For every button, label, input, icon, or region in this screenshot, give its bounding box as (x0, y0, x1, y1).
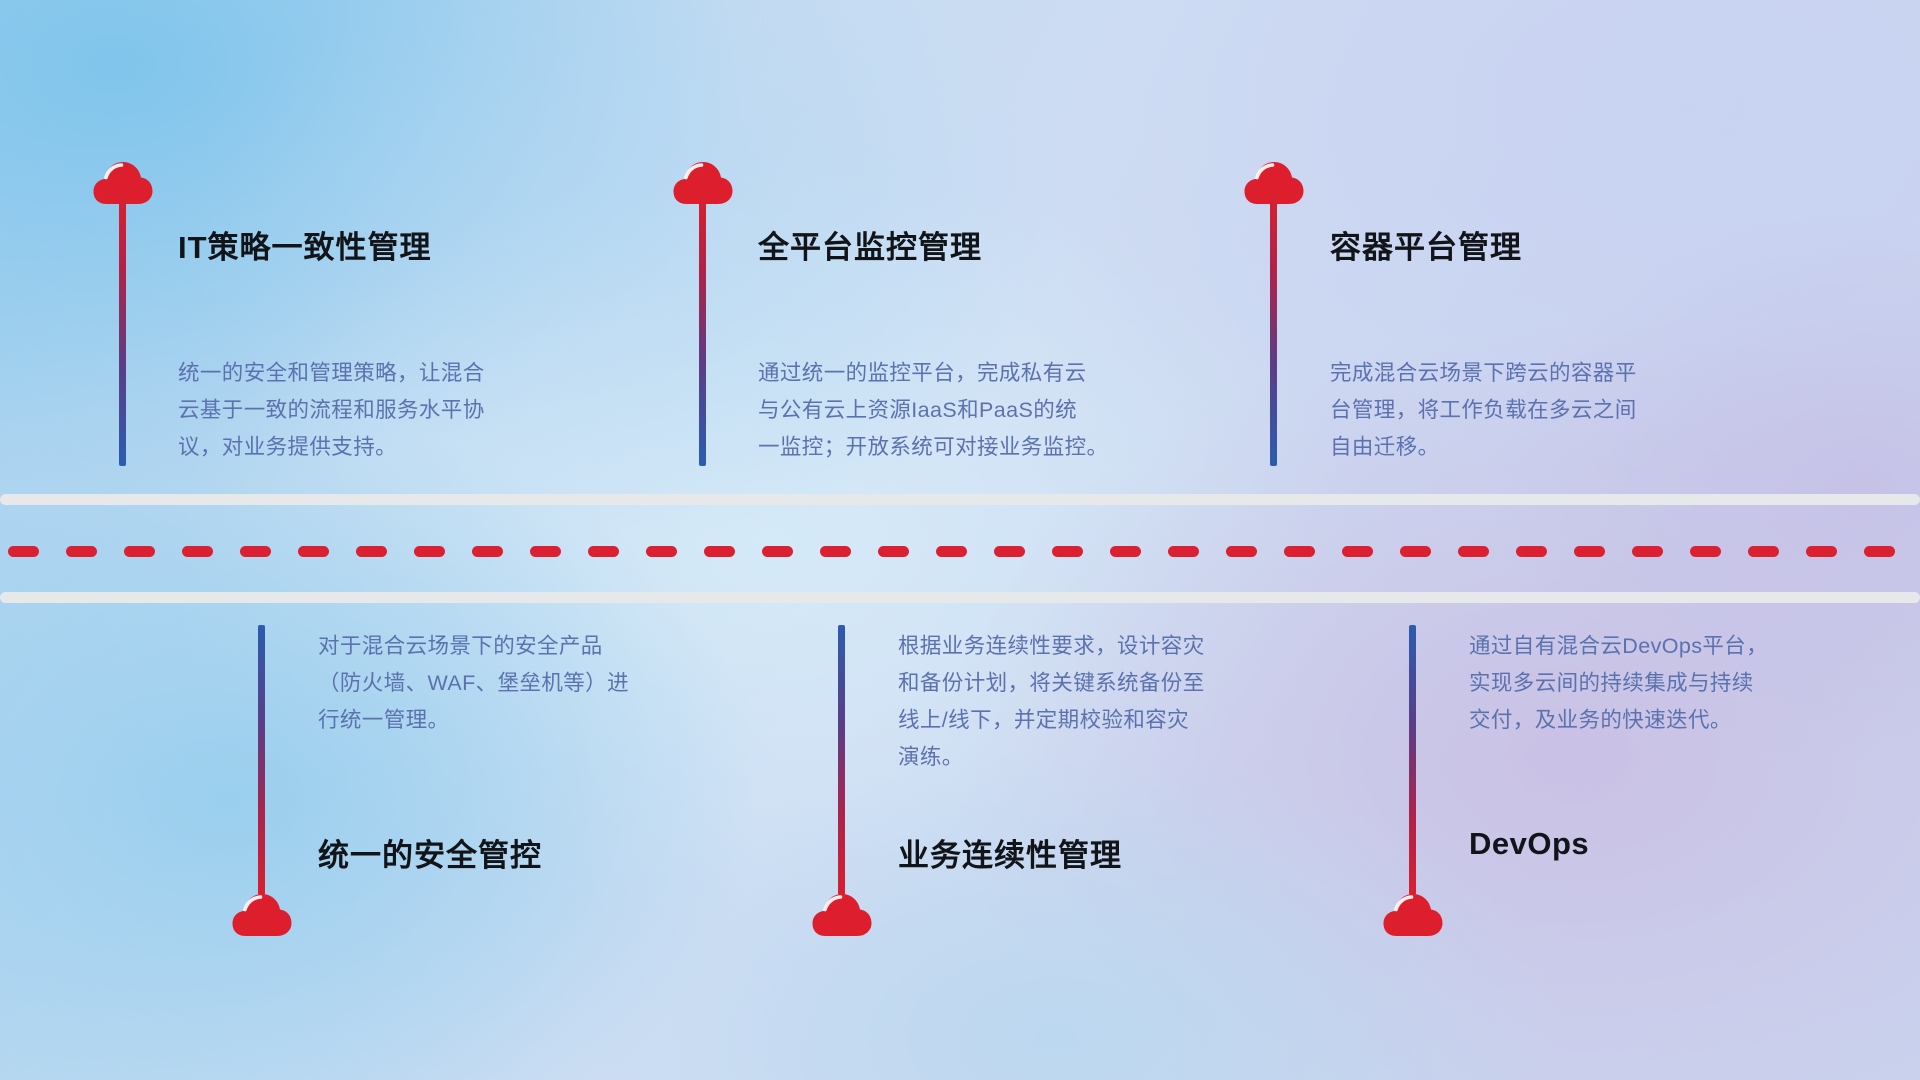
card-body: 完成混合云场景下跨云的容器平 台管理，将工作负载在多云之间 自由迁移。 (1330, 355, 1770, 466)
divider-dash (704, 546, 735, 557)
card-title: IT策略一致性管理 (178, 222, 432, 267)
divider-rule-bottom (0, 592, 1920, 603)
divider-dash (182, 546, 213, 557)
divider-dash (1632, 546, 1663, 557)
connector-bar (1409, 625, 1416, 895)
divider-dash (1342, 546, 1373, 557)
divider-dash (1574, 546, 1605, 557)
divider-dash (1806, 546, 1837, 557)
divider-dash (66, 546, 97, 557)
divider-dash (240, 546, 271, 557)
divider-dash (472, 546, 503, 557)
card-title: DevOps (1469, 826, 1589, 862)
divider-dash (994, 546, 1025, 557)
divider-dash (1226, 546, 1257, 557)
cloud-icon (811, 890, 873, 938)
connector-bar (838, 625, 845, 895)
divider-dash (1052, 546, 1083, 557)
infographic-stage: IT策略一致性管理 统一的安全和管理策略，让混合 云基于一致的流程和服务水平协 … (0, 0, 1920, 1080)
divider-dash (878, 546, 909, 557)
divider-dash (646, 546, 677, 557)
divider-dash (1864, 546, 1895, 557)
divider-dash (1748, 546, 1779, 557)
connector-bar (119, 196, 126, 466)
divider-dash (530, 546, 561, 557)
divider-dash (8, 546, 39, 557)
divider-dash (414, 546, 445, 557)
divider-dash (356, 546, 387, 557)
card-body: 根据业务连续性要求，设计容灾 和备份计划，将关键系统备份至 线上/线下，并定期校… (898, 628, 1338, 776)
divider-dash (1516, 546, 1547, 557)
cloud-icon (231, 890, 293, 938)
connector-bar (258, 625, 265, 895)
card-title: 全平台监控管理 (758, 222, 982, 267)
card-body: 统一的安全和管理策略，让混合 云基于一致的流程和服务水平协 议，对业务提供支持。 (178, 355, 608, 466)
connector-bar (1270, 196, 1277, 466)
card-body: 对于混合云场景下的安全产品 （防火墙、WAF、堡垒机等）进 行统一管理。 (318, 628, 748, 739)
divider-rule-top (0, 494, 1920, 505)
divider-dashed-line (0, 546, 1920, 557)
divider-dash (1690, 546, 1721, 557)
divider-dash (936, 546, 967, 557)
divider-dash (1110, 546, 1141, 557)
connector-bar (699, 196, 706, 466)
card-body: 通过自有混合云DevOps平台， 实现多云间的持续集成与持续 交付，及业务的快速… (1469, 628, 1909, 739)
card-title: 统一的安全管控 (318, 830, 542, 875)
card-title: 业务连续性管理 (898, 830, 1122, 875)
divider-dash (124, 546, 155, 557)
divider-dash (588, 546, 619, 557)
card-title: 容器平台管理 (1330, 222, 1522, 267)
divider-dash (1400, 546, 1431, 557)
divider-dash (1168, 546, 1199, 557)
divider-dash (762, 546, 793, 557)
divider-dash (820, 546, 851, 557)
card-body: 通过统一的监控平台，完成私有云 与公有云上资源IaaS和PaaS的统 一监控；开… (758, 355, 1208, 466)
divider-dash (1284, 546, 1315, 557)
divider-dash (298, 546, 329, 557)
divider-dash (1458, 546, 1489, 557)
cloud-icon (1382, 890, 1444, 938)
